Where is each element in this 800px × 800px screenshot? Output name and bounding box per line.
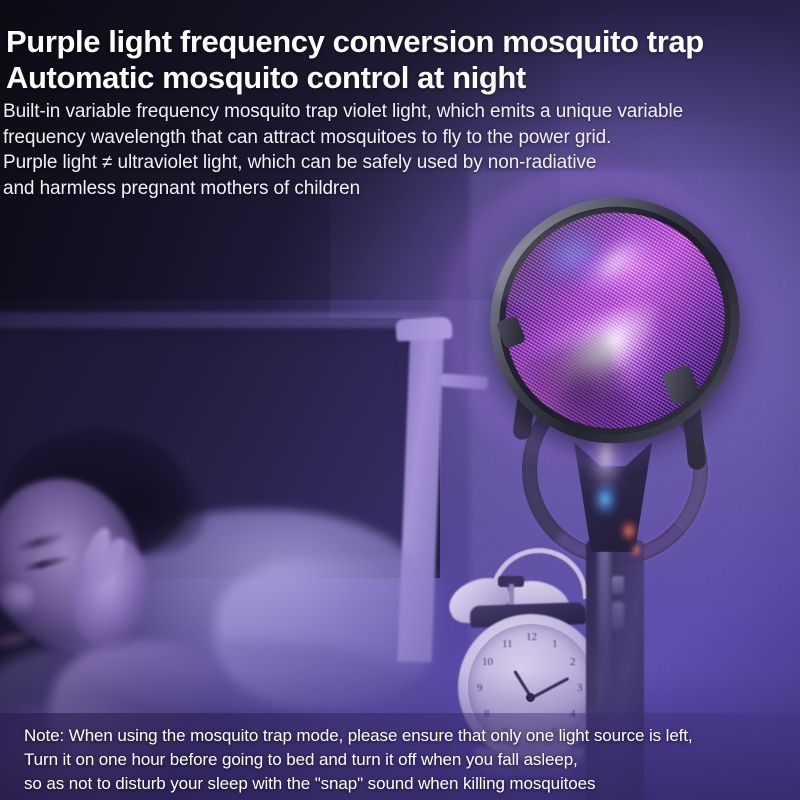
page-title: Purple light frequency conversion mosqui… [6, 24, 796, 96]
led-indicator-red-secondary [630, 543, 642, 557]
description-line-1: Built-in variable frequency mosquito tra… [3, 99, 797, 125]
product-description: Built-in variable frequency mosquito tra… [3, 99, 797, 201]
racket-mode-button [612, 602, 624, 630]
led-indicator-blue [592, 482, 618, 516]
usage-note: Note: When using the mosquito trap mode,… [24, 724, 794, 796]
headboard-top-edge [0, 312, 440, 328]
note-line-2: Turn it on one hour before going to bed … [24, 748, 794, 772]
woman-lips [0, 628, 33, 652]
description-line-3: Purple light ≠ ultraviolet light, which … [3, 150, 797, 176]
headline-line-2: Automatic mosquito control at night [6, 60, 796, 96]
led-indicator-red [620, 520, 638, 542]
racket-power-button [612, 576, 624, 594]
woman-nose [0, 582, 34, 616]
product-marketing-banner: 12 1 2 3 4 5 6 7 8 9 10 11 [0, 0, 800, 800]
note-line-3: so as not to disturb your sleep with the… [24, 772, 794, 796]
description-line-4: and harmless pregnant mothers of childre… [3, 176, 797, 202]
note-line-1: Note: When using the mosquito trap mode,… [24, 724, 794, 748]
description-line-2: frequency wavelength that can attract mo… [3, 125, 797, 151]
headline-line-1: Purple light frequency conversion mosqui… [6, 24, 796, 60]
